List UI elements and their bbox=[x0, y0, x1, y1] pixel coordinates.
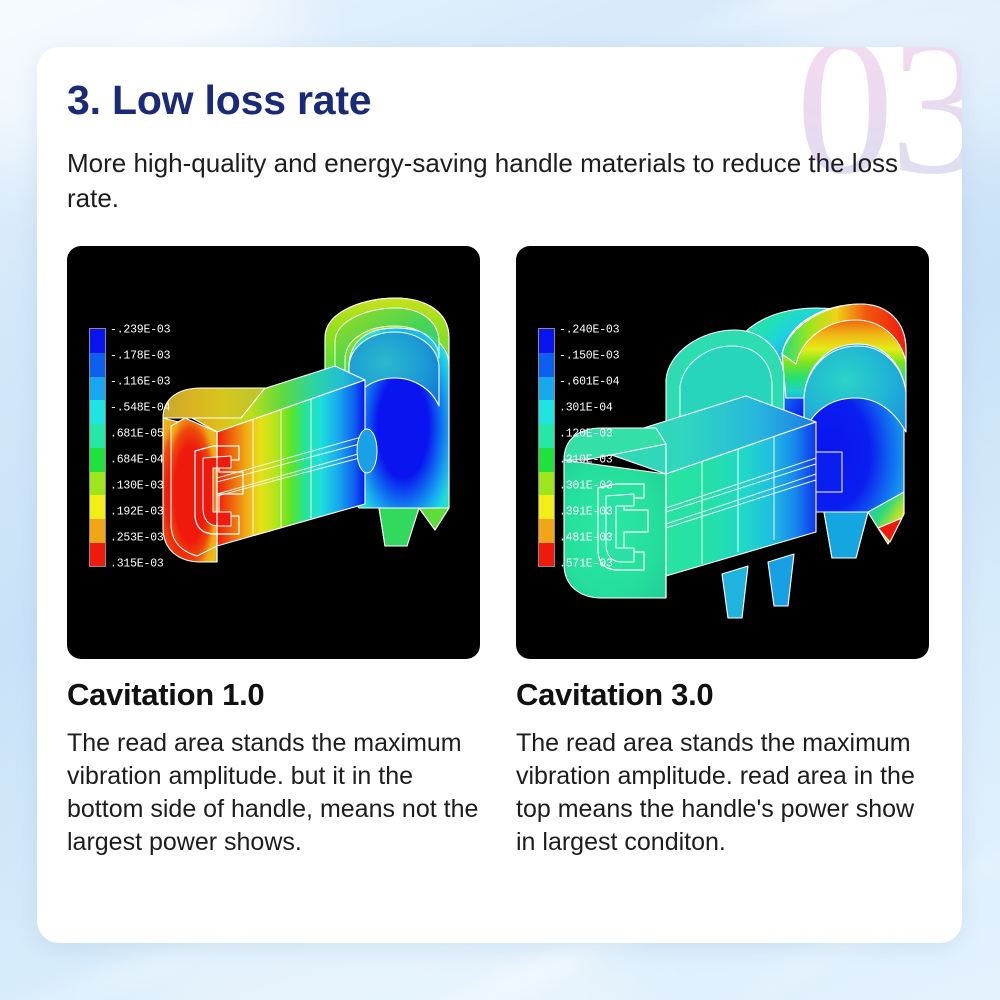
legend-label: -.240E-03 bbox=[559, 324, 619, 337]
legend-colorbar bbox=[538, 328, 555, 567]
legend-label: .253E-03 bbox=[110, 531, 164, 544]
legend-band bbox=[539, 353, 554, 377]
legend-band bbox=[539, 543, 554, 567]
legend-band bbox=[90, 472, 105, 496]
legend-band bbox=[90, 400, 105, 424]
caption-title-cavitation-3: Cavitation 3.0 bbox=[516, 677, 929, 713]
legend-band bbox=[539, 377, 554, 401]
legend-label: .681E-05 bbox=[110, 428, 164, 441]
legend-label: -.601E-04 bbox=[559, 376, 619, 389]
legend-band bbox=[90, 353, 105, 377]
legend-label: .481E-03 bbox=[559, 531, 613, 544]
fea-panel-cavitation-3: -.240E-03-.150E-03-.601E-04.301E-04.120E… bbox=[516, 246, 929, 659]
legend-band bbox=[539, 329, 554, 353]
legend-label: .130E-03 bbox=[110, 479, 164, 492]
legend-label: .315E-03 bbox=[110, 557, 164, 570]
card-inner: 3. Low loss rate More high-quality and e… bbox=[37, 47, 962, 943]
page-title: 3. Low loss rate bbox=[67, 77, 932, 124]
legend-band bbox=[90, 424, 105, 448]
caption-body-cavitation-1: The read area stands the maximum vibrati… bbox=[67, 727, 480, 859]
legend-band bbox=[539, 448, 554, 472]
legend-label: .120E-03 bbox=[559, 428, 613, 441]
color-legend-cavitation-1: -.239E-03-.178E-03-.116E-03-.548E-04.681… bbox=[89, 328, 110, 567]
legend-label: .301E-04 bbox=[559, 402, 613, 415]
color-legend-cavitation-3: -.240E-03-.150E-03-.601E-04.301E-04.120E… bbox=[538, 328, 559, 567]
caption-title-cavitation-1: Cavitation 1.0 bbox=[67, 677, 480, 713]
legend-band bbox=[90, 543, 105, 567]
legend-label: .391E-03 bbox=[559, 505, 613, 518]
legend-label: .684E-04 bbox=[110, 454, 164, 467]
page-subtitle: More high-quality and energy-saving hand… bbox=[67, 146, 932, 216]
content-card: 03 3. Low loss rate More high-quality an… bbox=[37, 47, 962, 943]
legend-label: -.239E-03 bbox=[110, 324, 170, 337]
legend-band bbox=[90, 495, 105, 519]
legend-band bbox=[90, 377, 105, 401]
legend-label: .571E-03 bbox=[559, 557, 613, 570]
legend-label: .301E-03 bbox=[559, 479, 613, 492]
legend-label: .210E-03 bbox=[559, 454, 613, 467]
column-cavitation-1: -.239E-03-.178E-03-.116E-03-.548E-04.681… bbox=[67, 246, 480, 859]
legend-colorbar bbox=[89, 328, 106, 567]
legend-band bbox=[90, 448, 105, 472]
legend-label: -.548E-04 bbox=[110, 402, 170, 415]
legend-label: -.150E-03 bbox=[559, 350, 619, 363]
legend-label: .192E-03 bbox=[110, 505, 164, 518]
legend-band bbox=[539, 400, 554, 424]
legend-band bbox=[539, 495, 554, 519]
legend-label: -.116E-03 bbox=[110, 376, 170, 389]
panel-columns: -.239E-03-.178E-03-.116E-03-.548E-04.681… bbox=[67, 246, 932, 859]
fea-panel-cavitation-1: -.239E-03-.178E-03-.116E-03-.548E-04.681… bbox=[67, 246, 480, 659]
page-root: 03 3. Low loss rate More high-quality an… bbox=[0, 0, 1000, 1000]
legend-band bbox=[539, 519, 554, 543]
legend-band bbox=[90, 519, 105, 543]
legend-label: -.178E-03 bbox=[110, 350, 170, 363]
column-cavitation-3: -.240E-03-.150E-03-.601E-04.301E-04.120E… bbox=[516, 246, 929, 859]
legend-band bbox=[539, 472, 554, 496]
legend-band bbox=[539, 424, 554, 448]
caption-body-cavitation-3: The read area stands the maximum vibrati… bbox=[516, 727, 929, 859]
legend-band bbox=[90, 329, 105, 353]
